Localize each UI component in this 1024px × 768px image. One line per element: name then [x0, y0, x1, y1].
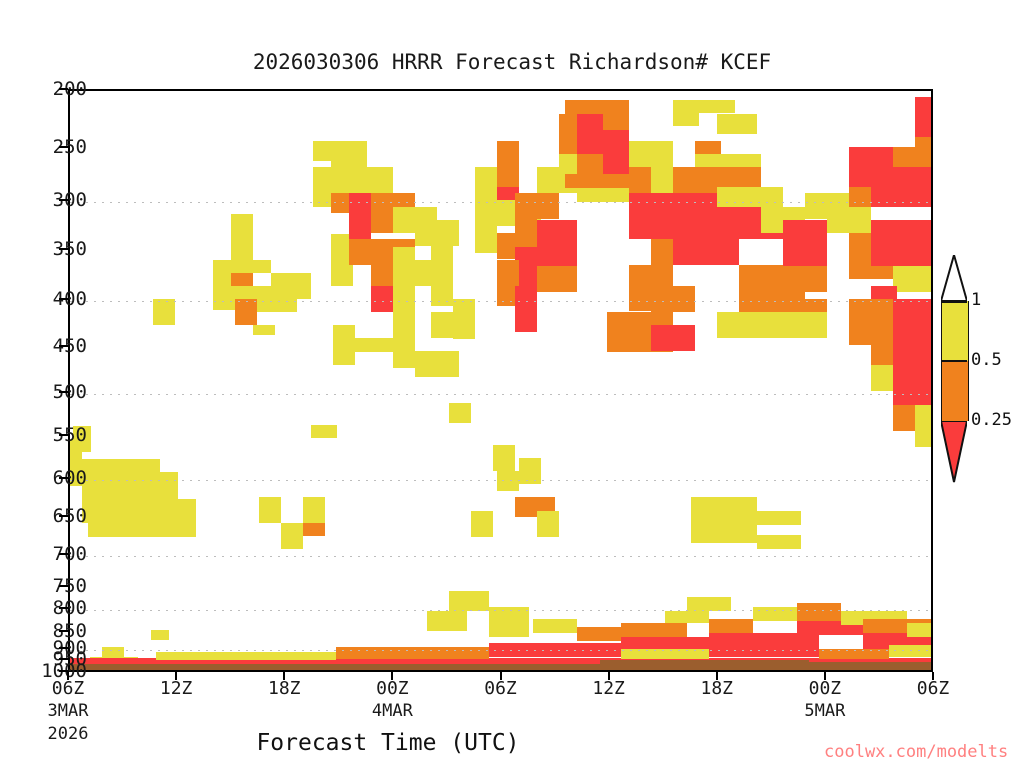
heatmap-cell: [515, 286, 537, 332]
heatmap-cell: [102, 647, 124, 657]
y-axis-tick-mark: [59, 477, 68, 479]
heatmap-cell: [871, 220, 933, 266]
x-axis-day-label: 5MAR: [804, 701, 845, 721]
y-axis-tick-mark: [59, 345, 68, 347]
heatmap-cell: [160, 472, 178, 499]
heatmap-cell: [259, 497, 281, 523]
heatmap-cell: [257, 299, 297, 312]
page-title: 2026030306 HRRR Forecast Richardson# KCE…: [0, 50, 1024, 74]
heatmap-cell: [537, 511, 559, 537]
heatmap-cell: [915, 137, 933, 157]
y-axis-tick-mark: [59, 515, 68, 517]
y-axis-tick-label: 200: [0, 78, 87, 100]
heatmap-cell: [82, 499, 124, 523]
y-axis-tick-mark: [59, 199, 68, 201]
y-axis-tick-label: 300: [0, 189, 87, 211]
y-axis-tick-label: 500: [0, 381, 87, 403]
y-axis-tick-mark: [59, 298, 68, 300]
heatmap-cell: [819, 649, 889, 659]
heatmap-cell: [303, 523, 325, 536]
heatmap-cell: [253, 325, 275, 335]
x-axis-tick-label: 12Z: [592, 678, 625, 699]
y-axis-tick-mark: [59, 146, 68, 148]
heatmap-cell: [717, 114, 757, 134]
heatmap-cell: [471, 511, 493, 537]
heatmap-cell: [142, 523, 160, 537]
heatmap-cell: [493, 445, 515, 471]
heatmap-cell: [537, 193, 559, 219]
colorbar-segment-yellow: [941, 301, 969, 361]
heatmap-cell: [565, 174, 629, 188]
y-axis-tick-label: 350: [0, 238, 87, 260]
heatmap-cell: [621, 623, 687, 637]
heatmap-cell: [537, 220, 577, 266]
heatmap-cell: [629, 265, 673, 311]
heatmap-cell: [231, 214, 253, 240]
x-axis-tick-label: 06Z: [917, 678, 950, 699]
y-axis-tick-label: 450: [0, 335, 87, 357]
heatmap-cell: [651, 167, 673, 193]
y-axis-tick-mark: [59, 607, 68, 609]
y-axis-tick-label: 250: [0, 136, 87, 158]
x-axis-tick-label: 12Z: [160, 678, 193, 699]
y-axis-tick-mark: [59, 630, 68, 632]
x-axis-tick-label: 00Z: [376, 678, 409, 699]
heatmap-cell: [453, 299, 475, 339]
heatmap-cell: [427, 611, 467, 631]
heatmap-cell: [449, 591, 489, 611]
heatmap-cell: [235, 299, 257, 325]
heatmap-cell: [519, 458, 541, 484]
x-axis-tick-label: 00Z: [809, 678, 842, 699]
y-axis-tick-mark: [59, 391, 68, 393]
heatmap-cell: [449, 403, 471, 423]
heatmap-cell: [717, 187, 783, 207]
colorbar-segment-orange: [941, 361, 969, 421]
colorbar-tick-label: 0.5: [971, 350, 1002, 370]
heatmap-cell: [303, 497, 325, 523]
heatmap-cell: [371, 167, 393, 193]
terrain-segment: [600, 660, 809, 672]
heatmap-cell: [475, 207, 497, 233]
heatmap-cell: [577, 188, 629, 202]
heatmap-plot-area: [68, 89, 933, 672]
chart-page: 2026030306 HRRR Forecast Richardson# KCE…: [0, 0, 1024, 768]
colorbar-divider-top: [941, 301, 967, 303]
heatmap-cell: [156, 652, 336, 660]
watermark: coolwx.com/modelts: [824, 742, 1008, 762]
heatmap-cell: [797, 603, 841, 621]
heatmap-cell: [695, 141, 721, 154]
heatmap-cell: [603, 130, 629, 156]
heatmap-cell: [673, 100, 699, 126]
heatmap-cell: [336, 647, 489, 659]
heatmap-cell: [160, 499, 196, 523]
heatmap-cell: [621, 649, 709, 659]
heatmap-cell: [431, 260, 453, 306]
heatmap-cell: [497, 471, 519, 491]
heatmap-cell: [871, 167, 933, 207]
heatmap-cell: [355, 338, 395, 352]
heatmap-cell: [431, 312, 453, 338]
y-axis-tick-label: 400: [0, 288, 87, 310]
heatmap-cell: [281, 523, 303, 549]
heatmap-cell: [153, 299, 175, 325]
heatmap-cell: [515, 193, 537, 233]
y-axis-tick-label: 800: [0, 597, 87, 619]
y-axis-tick-mark: [59, 88, 68, 90]
heatmap-cell: [271, 273, 311, 299]
heatmap-cell: [231, 273, 253, 286]
y-axis-tick-label: 650: [0, 505, 87, 527]
heatmap-cell: [577, 154, 603, 174]
heatmap-cell: [915, 427, 933, 447]
heatmap-cell: [709, 619, 753, 633]
heatmap-cell: [695, 100, 735, 113]
heatmap-cell: [393, 286, 415, 312]
x-axis-day-label: 4MAR: [372, 701, 413, 721]
heatmap-cell: [533, 619, 577, 633]
y-axis-tick-label: 550: [0, 424, 87, 446]
heatmap-cell: [603, 100, 629, 130]
heatmap-cell: [333, 325, 355, 365]
y-axis-tick-mark: [59, 248, 68, 250]
heatmap-cell: [371, 286, 393, 312]
heatmap-cell: [757, 511, 801, 525]
heatmap-cell: [915, 266, 933, 292]
heatmap-cell: [213, 273, 231, 286]
heatmap-cell: [331, 141, 367, 167]
heatmap-cell: [691, 497, 757, 543]
y-axis-tick-label: 750: [0, 575, 87, 597]
heatmap-cell: [889, 645, 933, 657]
heatmap-cell: [577, 627, 621, 641]
heatmap-cell: [431, 234, 453, 260]
heatmap-cell: [349, 193, 371, 239]
heatmap-cell: [621, 637, 709, 649]
heatmap-cell: [489, 607, 529, 637]
heatmap-cell: [757, 535, 801, 549]
heatmap-cell: [893, 365, 933, 405]
heatmap-cell: [489, 643, 621, 657]
colorbar-tick-label: 0.25: [971, 410, 1012, 430]
y-axis-tick-mark: [59, 553, 68, 555]
heatmap-cell: [915, 97, 933, 137]
heatmap-cell: [651, 325, 695, 351]
heatmap-cell: [717, 312, 827, 338]
heatmap-cell: [665, 611, 709, 623]
heatmap-cells: [70, 91, 931, 670]
heatmap-cell: [415, 351, 459, 377]
heatmap-cell: [497, 141, 519, 187]
x-axis-tick-label: 06Z: [484, 678, 517, 699]
heatmap-cell: [907, 623, 933, 637]
x-axis-tick-label: 18Z: [700, 678, 733, 699]
colorbar-tick-label: 1: [971, 290, 981, 310]
heatmap-cell: [629, 141, 673, 167]
x-axis-day-label: 3MAR: [48, 701, 89, 721]
heatmap-cell: [603, 154, 629, 174]
x-axis-tick-label: 18Z: [268, 678, 301, 699]
colorbar-legend: 10.50.25: [941, 301, 967, 481]
colorbar-divider-mid: [941, 360, 967, 362]
y-axis-tick-label: 700: [0, 543, 87, 565]
heatmap-cell: [673, 239, 739, 265]
heatmap-cell: [160, 523, 196, 537]
x-axis-tick-label: 06Z: [52, 678, 85, 699]
heatmap-cell: [335, 167, 375, 193]
heatmap-cell: [827, 207, 871, 233]
heatmap-cell: [253, 260, 271, 273]
y-axis-tick-mark: [59, 434, 68, 436]
heatmap-cell: [783, 266, 827, 292]
y-axis-tick-mark: [59, 585, 68, 587]
heatmap-cell: [311, 425, 337, 438]
heatmap-cell: [124, 499, 160, 523]
terrain-segment: [809, 662, 933, 672]
x-axis-title: Forecast Time (UTC): [68, 730, 708, 756]
heatmap-cell: [537, 266, 577, 292]
heatmap-cell: [106, 472, 124, 485]
heatmap-cell: [709, 645, 819, 657]
heatmap-cell: [151, 630, 169, 640]
heatmap-cell: [231, 240, 253, 260]
heatmap-cell: [393, 312, 415, 368]
y-axis-tick-label: 600: [0, 467, 87, 489]
heatmap-cell: [687, 597, 731, 611]
heatmap-cell: [753, 607, 797, 621]
heatmap-cell: [475, 167, 497, 207]
